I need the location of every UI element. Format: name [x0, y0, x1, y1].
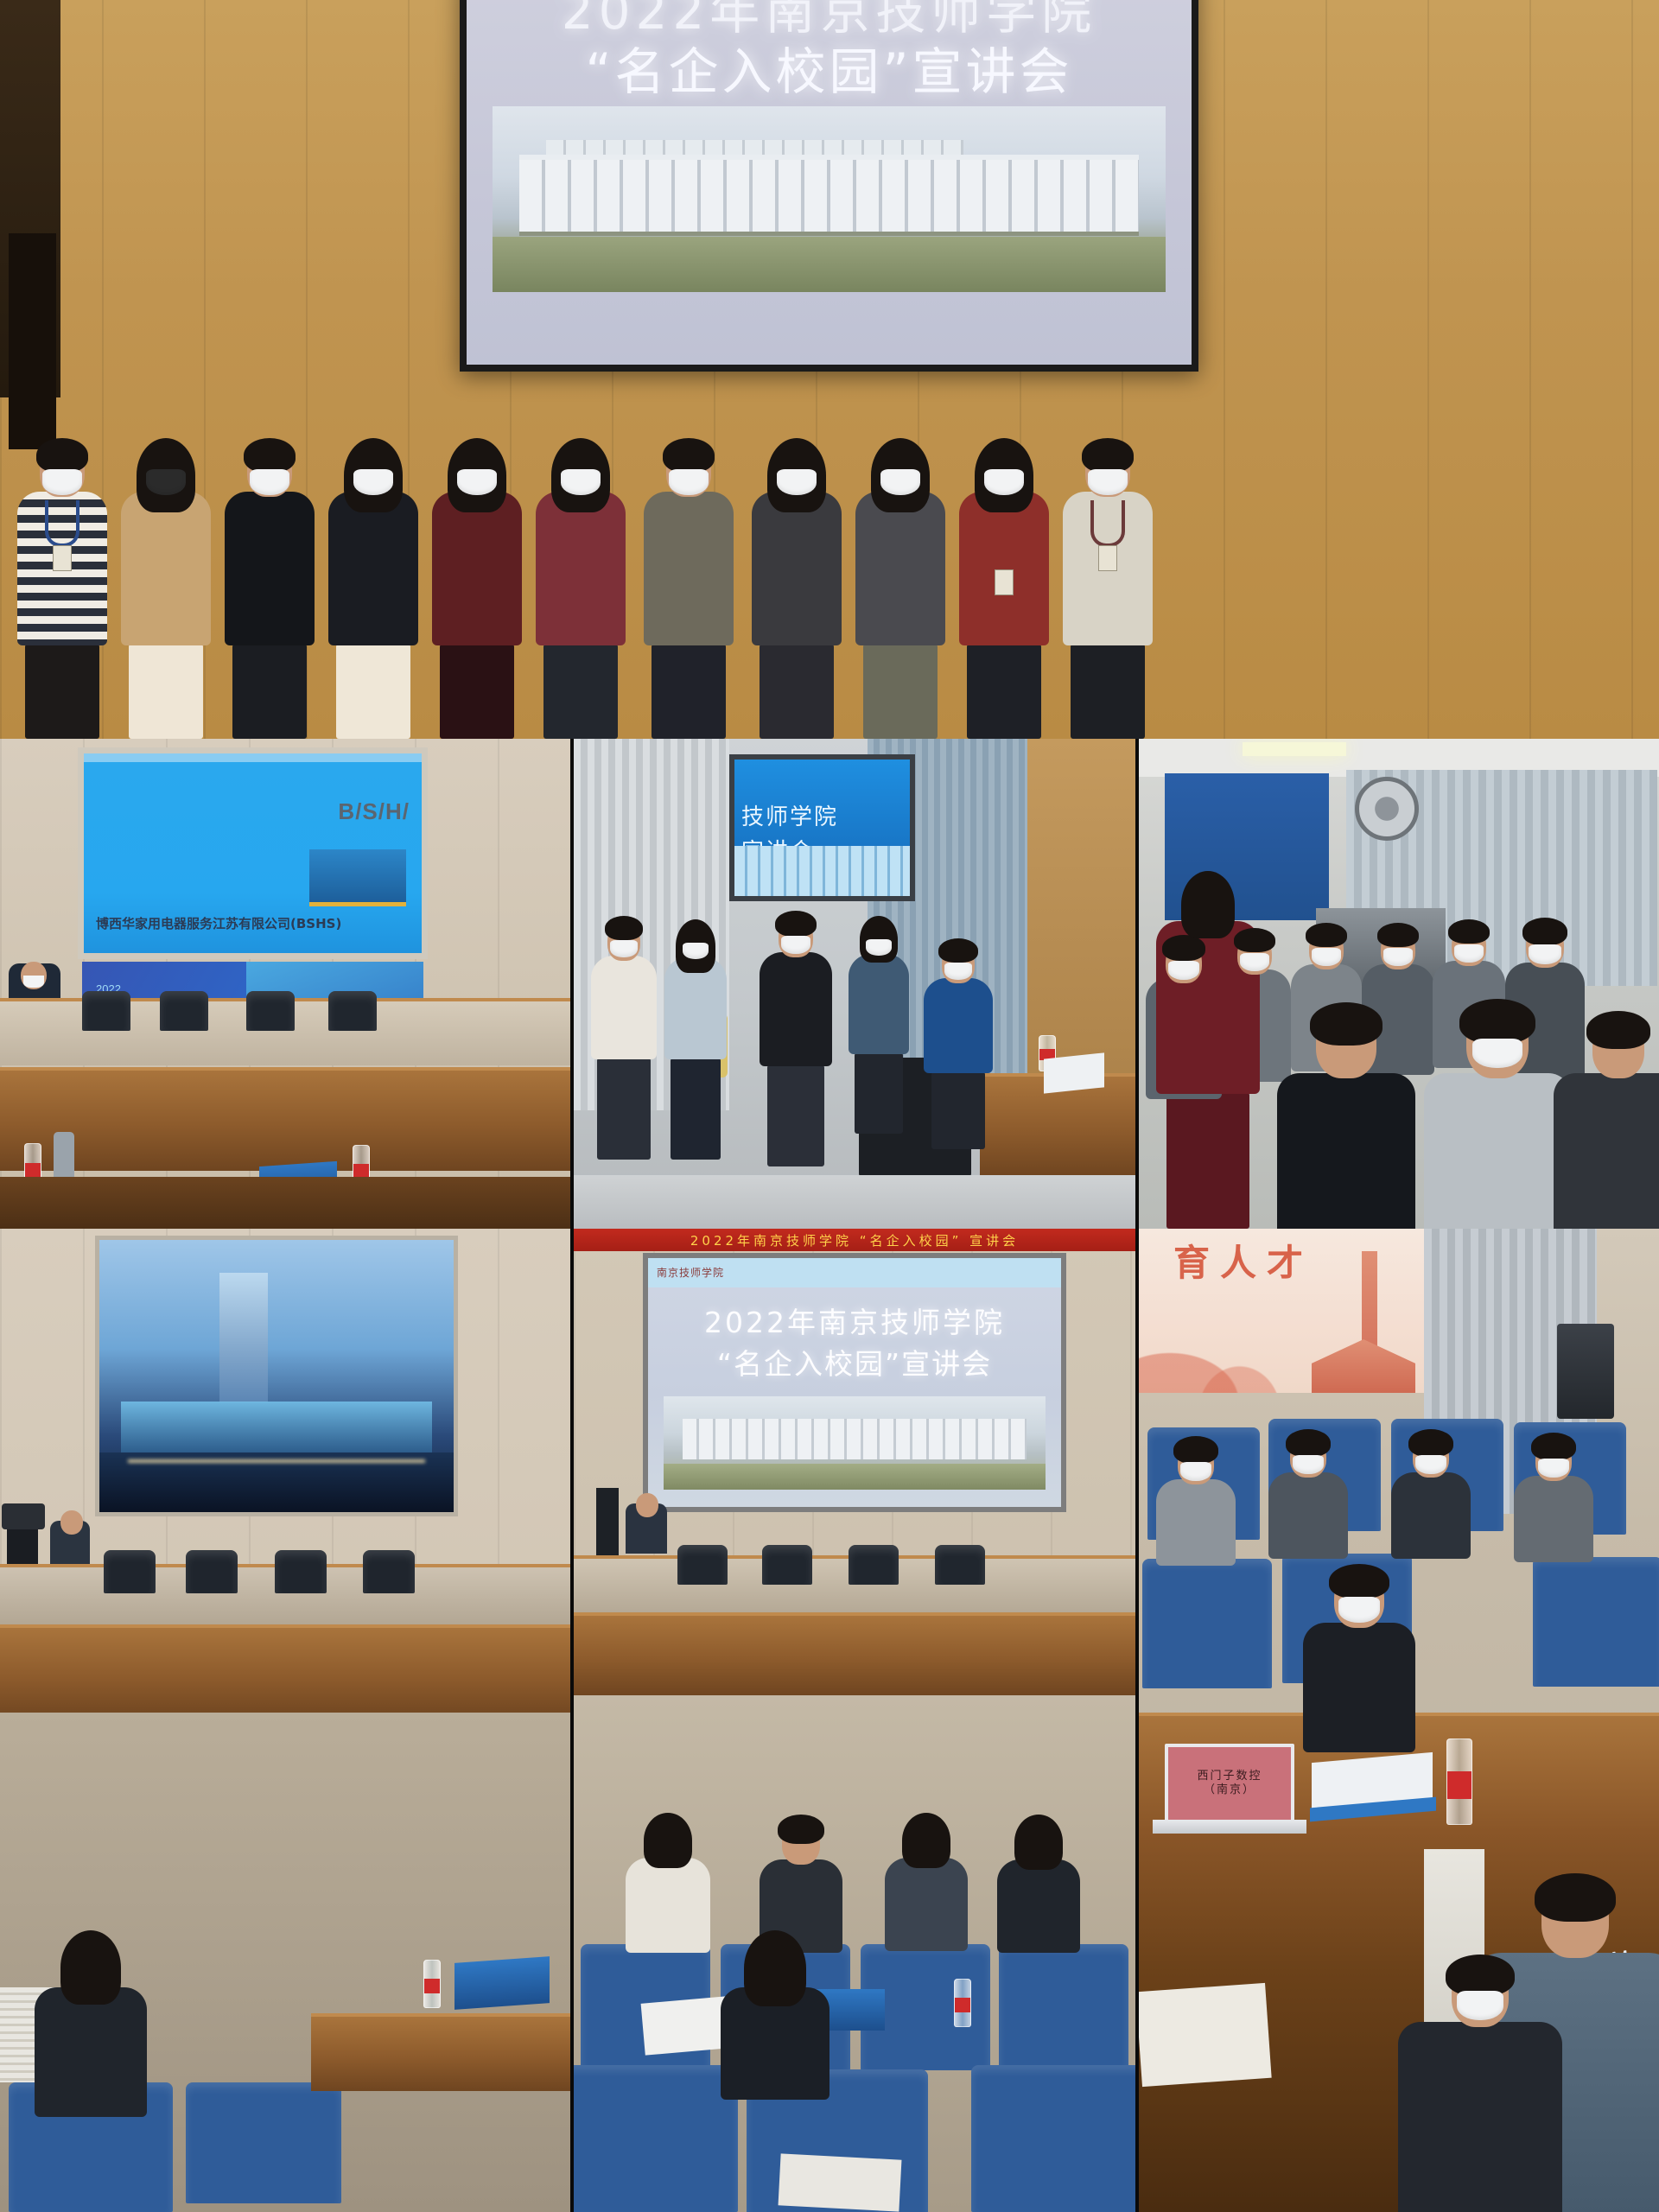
person — [664, 926, 727, 1160]
operator-head — [636, 1493, 658, 1517]
audience-desk — [0, 1624, 570, 1719]
person — [536, 445, 626, 739]
person — [121, 445, 211, 739]
wall-fan — [1355, 777, 1419, 841]
video-camera — [2, 1503, 45, 1529]
led-display: 技师学院 宣讲会 — [729, 754, 915, 901]
person — [225, 445, 315, 739]
audience-seat — [186, 2082, 341, 2203]
main-projection-screen: 南京技师学院 2022年南京技师学院 “名企入校园”宣讲会 — [643, 1253, 1066, 1512]
speaker-mask — [23, 976, 44, 988]
person — [959, 445, 1049, 739]
hall-chair — [246, 991, 295, 1031]
paper-on-desk — [1139, 1983, 1272, 2087]
group-of-attendees — [0, 441, 1659, 739]
audience-seat — [999, 1944, 1128, 2074]
handout-sheet — [779, 2153, 902, 2211]
main-slide-line1: 2022年南京技师学院 — [648, 1300, 1061, 1341]
placard-line1: 西门子数控 — [1197, 1770, 1262, 1783]
campus-building-front — [519, 155, 1139, 237]
slide-light-strip — [128, 1459, 425, 1463]
person — [35, 1937, 147, 2117]
person — [721, 1937, 829, 2100]
slide-header-bar: 南京技师学院 — [648, 1258, 1061, 1287]
panel-main-hall-presentation: 2022年南京技师学院 “名企入校园” 宣讲会 南京技师学院 2022年南京技师… — [574, 1229, 1135, 2212]
audience-seat — [1533, 1557, 1659, 1687]
hero-screen-title-line2: “名企入校园”宣讲会 — [467, 31, 1192, 104]
collage-row-3: 2022年南京技师学院 “名企入校园” 宣讲会 南京技师学院 2022年南京技师… — [0, 1229, 1659, 1720]
slide-thumbnail — [309, 849, 406, 906]
hero-screen-campus-photo — [493, 106, 1166, 292]
leaflet-stack — [1044, 1052, 1104, 1093]
campus-lawn — [493, 237, 1166, 293]
bshs-company-name: 博西华家用电器服务江苏有限公司(BSHS) — [96, 914, 341, 932]
hall-chair — [363, 1550, 415, 1593]
hall-chair — [328, 991, 377, 1031]
hall-chair — [849, 1545, 899, 1585]
wall-banner-text: 育人才 — [1173, 1234, 1313, 1287]
person — [849, 923, 909, 1134]
placard-line2: （南京） — [1204, 1783, 1255, 1797]
panel-student-interview-room: 技师学院 宣讲会 — [574, 739, 1135, 1229]
slide-lawn — [664, 1464, 1046, 1490]
company-name-placard[interactable]: 西门子数控 （南京） — [1165, 1744, 1294, 1823]
main-slide-campus-photo — [664, 1396, 1046, 1490]
panel-campus-night-presentation — [0, 1229, 570, 2212]
front-desk-edge — [0, 1177, 570, 1229]
audience-desk-1 — [0, 1067, 570, 1171]
hall-chair — [186, 1550, 238, 1593]
person — [885, 1820, 968, 1951]
hero-group-photo: 2022年南京技师学院 “名企入校园”宣讲会 — [0, 0, 1659, 739]
person — [626, 1820, 710, 1953]
panel-bshs-lecture-hall: B/S/H/ 博西华家用电器服务江苏有限公司(BSHS) 2022 CN/CS-… — [0, 739, 570, 1229]
hall-chair — [82, 991, 130, 1031]
audience-seat-front — [971, 2065, 1135, 2212]
wall-speaker — [1557, 1324, 1614, 1419]
panel-workshop-visit — [1139, 739, 1659, 1229]
floor-tiles — [574, 1175, 1135, 1229]
slide-building — [683, 1419, 1027, 1460]
panel-siemens-recruit-desk: 育人才 西门子数控 （南京） — [1139, 1229, 1659, 2212]
hall-chair — [104, 1550, 156, 1593]
led-line1: 技师学院 — [741, 799, 838, 831]
person — [591, 923, 657, 1160]
slide-logo-text: 南京技师学院 — [657, 1265, 724, 1280]
hero-projection-screen: 2022年南京技师学院 “名企入校园”宣讲会 — [460, 0, 1198, 372]
person — [1063, 445, 1153, 739]
main-slide-line2: “名企入校园”宣讲会 — [648, 1341, 1061, 1382]
audience-seat — [1142, 1559, 1272, 1688]
water-bottle — [423, 1960, 441, 2008]
person — [328, 445, 418, 739]
person — [997, 1821, 1080, 1953]
person — [17, 445, 107, 739]
person — [432, 445, 522, 739]
audience-desk — [574, 1612, 1135, 1695]
led-campus-image — [734, 846, 910, 896]
ceiling-light — [1243, 742, 1346, 756]
hall-banner-text: 2022年南京技师学院 “名企入校园” 宣讲会 — [690, 1231, 1019, 1249]
great-wall-illustration — [1139, 1289, 1329, 1393]
side-door — [9, 233, 56, 449]
audience-seat-front — [574, 2065, 738, 2212]
hall-red-banner: 2022年南京技师学院 “名企入校园” 宣讲会 — [574, 1229, 1135, 1251]
collage-row-2: B/S/H/ 博西华家用电器服务江苏有限公司(BSHS) 2022 CN/CS-… — [0, 739, 1659, 1229]
hall-chair — [935, 1545, 985, 1585]
person — [855, 445, 945, 739]
hall-chair — [762, 1545, 812, 1585]
person — [760, 918, 832, 1166]
hall-chair — [160, 991, 208, 1031]
desk-right — [311, 2013, 570, 2091]
slide-top-bar — [84, 753, 422, 762]
bsh-logo: B/S/H/ — [338, 798, 410, 825]
bshs-projection-screen: B/S/H/ 博西华家用电器服务江苏有限公司(BSHS) — [78, 747, 428, 959]
placard-stand — [1153, 1820, 1306, 1834]
staff-head — [60, 1510, 83, 1535]
hall-chair — [275, 1550, 327, 1593]
hall-chair — [677, 1545, 728, 1585]
night-campus-slide — [95, 1236, 458, 1516]
person — [752, 445, 842, 739]
person — [924, 945, 993, 1149]
wall-culture-banner: 育人才 — [1139, 1229, 1424, 1393]
slide-tower — [219, 1273, 268, 1402]
water-bottle — [954, 1979, 971, 2027]
water-bottle — [1446, 1738, 1472, 1825]
photo-collage: 2022年南京技师学院 “名企入校园”宣讲会 — [0, 0, 1659, 2212]
person — [644, 445, 734, 739]
brochure — [454, 1956, 550, 2010]
